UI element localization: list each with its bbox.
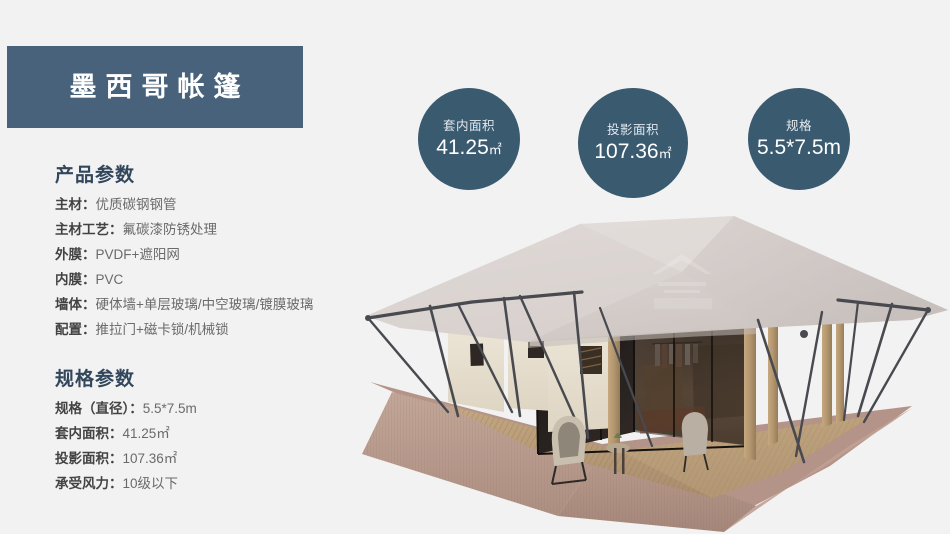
specification-parameters-heading: 规格参数	[55, 370, 197, 389]
badge-unit-1: ㎡	[659, 146, 672, 161]
badge-dimensions: 规格 5.5*7.5m	[748, 88, 850, 190]
spec-value-1: 41.25㎡	[123, 426, 170, 441]
spec-label-0: 规格（直径）：	[55, 401, 143, 416]
specification-parameters-section: 规格参数 规格（直径）：5.5*7.5m 套内面积：41.25㎡ 投影面积：10…	[55, 370, 197, 501]
badge-label-1: 投影面积	[607, 124, 659, 137]
product-value-0: 优质碳钢钢管	[96, 197, 177, 212]
spec-value-2: 107.36㎡	[123, 451, 178, 466]
product-label-0: 主材：	[55, 197, 96, 212]
product-parameters-heading: 产品参数	[55, 166, 313, 185]
spec-row-1: 套内面积：41.25㎡	[55, 426, 197, 442]
spec-label-1: 套内面积：	[55, 426, 123, 441]
product-row-1: 主材工艺：氟碳漆防锈处理	[55, 222, 313, 238]
product-value-2: PVDF+遮阳网	[96, 247, 180, 262]
product-label-2: 外膜：	[55, 247, 96, 262]
spec-row-2: 投影面积：107.36㎡	[55, 451, 197, 467]
badge-number-0: 41.25	[436, 136, 489, 159]
product-parameters-section: 产品参数 主材：优质碳钢钢管 主材工艺：氟碳漆防锈处理 外膜：PVDF+遮阳网 …	[55, 166, 313, 347]
badge-label-0: 套内面积	[443, 120, 495, 133]
spec-row-0: 规格（直径）：5.5*7.5m	[55, 401, 197, 417]
badge-value-2: 5.5*7.5m	[757, 137, 841, 158]
product-label-5: 配置：	[55, 322, 96, 337]
product-row-4: 墙体：硬体墙+单层玻璃/中空玻璃/镀膜玻璃	[55, 297, 313, 313]
page-root: 墨西哥帐篷 产品参数 主材：优质碳钢钢管 主材工艺：氟碳漆防锈处理 外膜：PVD…	[0, 0, 950, 534]
tent-render-image	[352, 216, 950, 534]
product-row-5: 配置：推拉门+磁卡锁/机械锁	[55, 322, 313, 338]
product-value-5: 推拉门+磁卡锁/机械锁	[96, 322, 229, 337]
badge-label-2: 规格	[786, 120, 812, 133]
product-row-0: 主材：优质碳钢钢管	[55, 197, 313, 213]
badge-value-1: 107.36㎡	[594, 141, 671, 162]
product-label-1: 主材工艺：	[55, 222, 123, 237]
badge-number-2: 5.5*7.5m	[757, 136, 841, 159]
product-value-1: 氟碳漆防锈处理	[123, 222, 218, 237]
product-label-4: 墙体：	[55, 297, 96, 312]
spec-label-3: 承受风力：	[55, 476, 123, 491]
badge-value-0: 41.25㎡	[436, 137, 502, 158]
page-title: 墨西哥帐篷	[61, 74, 250, 101]
product-label-3: 内膜：	[55, 272, 96, 287]
window-1	[470, 344, 484, 366]
badge-projected-area: 投影面积 107.36㎡	[578, 88, 688, 198]
product-value-4: 硬体墙+单层玻璃/中空玻璃/镀膜玻璃	[96, 297, 314, 312]
product-value-3: PVC	[96, 272, 124, 287]
spec-value-3: 10级以下	[123, 476, 179, 491]
page-title-banner: 墨西哥帐篷	[7, 46, 303, 128]
spec-label-2: 投影面积：	[55, 451, 123, 466]
badge-unit-0: ㎡	[489, 142, 502, 157]
spec-row-3: 承受风力：10级以下	[55, 476, 197, 492]
badge-interior-area: 套内面积 41.25㎡	[418, 88, 520, 190]
product-row-2: 外膜：PVDF+遮阳网	[55, 247, 313, 263]
badge-number-1: 107.36	[594, 140, 658, 163]
canopy-roof	[366, 216, 948, 348]
product-row-3: 内膜：PVC	[55, 272, 313, 288]
spec-value-0: 5.5*7.5m	[143, 401, 197, 416]
